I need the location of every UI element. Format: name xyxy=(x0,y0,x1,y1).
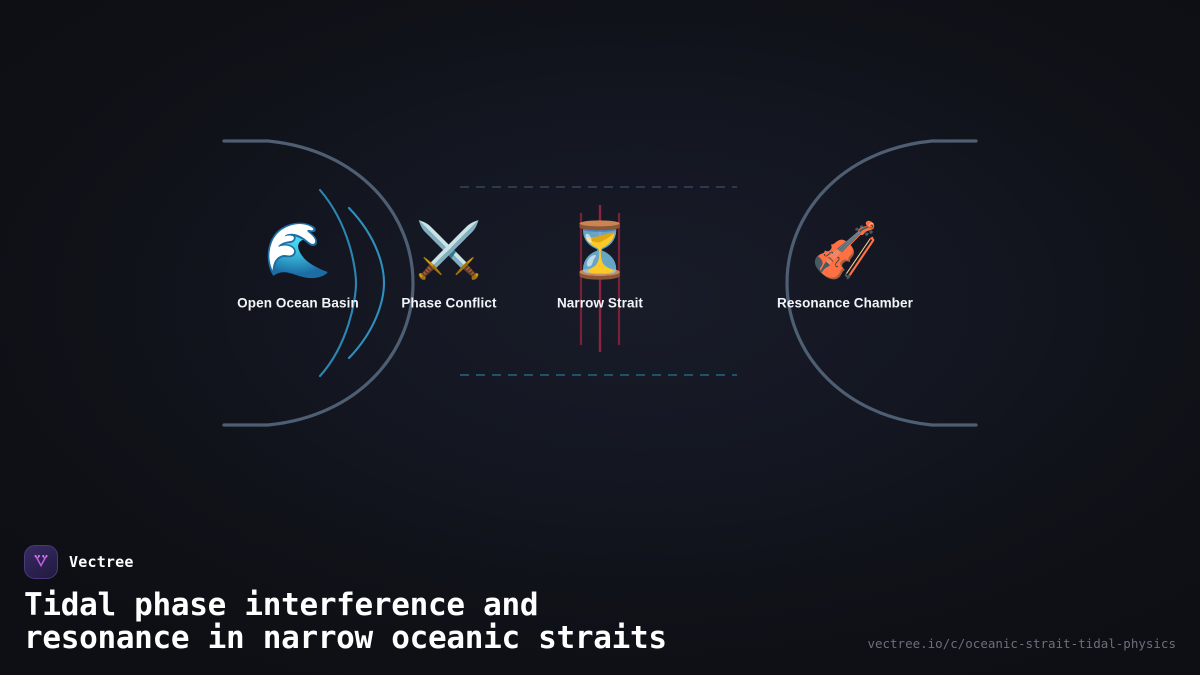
page-title: Tidal phase interference and resonance i… xyxy=(24,589,667,656)
diagram-node-narrow-strait[interactable]: ⏳ Narrow Strait xyxy=(470,220,730,311)
violin-icon: 🎻 xyxy=(811,220,878,282)
title-row: Tidal phase interference and resonance i… xyxy=(24,589,1176,656)
diagram-node-resonance-chamber[interactable]: 🎻 Resonance Chamber xyxy=(715,220,975,311)
source-url: vectree.io/c/oceanic-strait-tidal-physic… xyxy=(867,636,1176,656)
vectree-logo-icon[interactable] xyxy=(24,545,58,579)
diagram-node-label: Resonance Chamber xyxy=(777,296,913,311)
diagram-node-label: Narrow Strait xyxy=(557,296,643,311)
brand-row: Vectree xyxy=(24,545,1176,579)
hourglass-icon: ⏳ xyxy=(566,220,633,282)
footer: Vectree Tidal phase interference and res… xyxy=(0,545,1200,675)
brand-name: Vectree xyxy=(69,553,134,571)
branching-v-glyph xyxy=(31,552,51,572)
slide-canvas: 🌊 Open Ocean Basin ⚔️ Phase Conflict ⏳ N… xyxy=(0,0,1200,675)
